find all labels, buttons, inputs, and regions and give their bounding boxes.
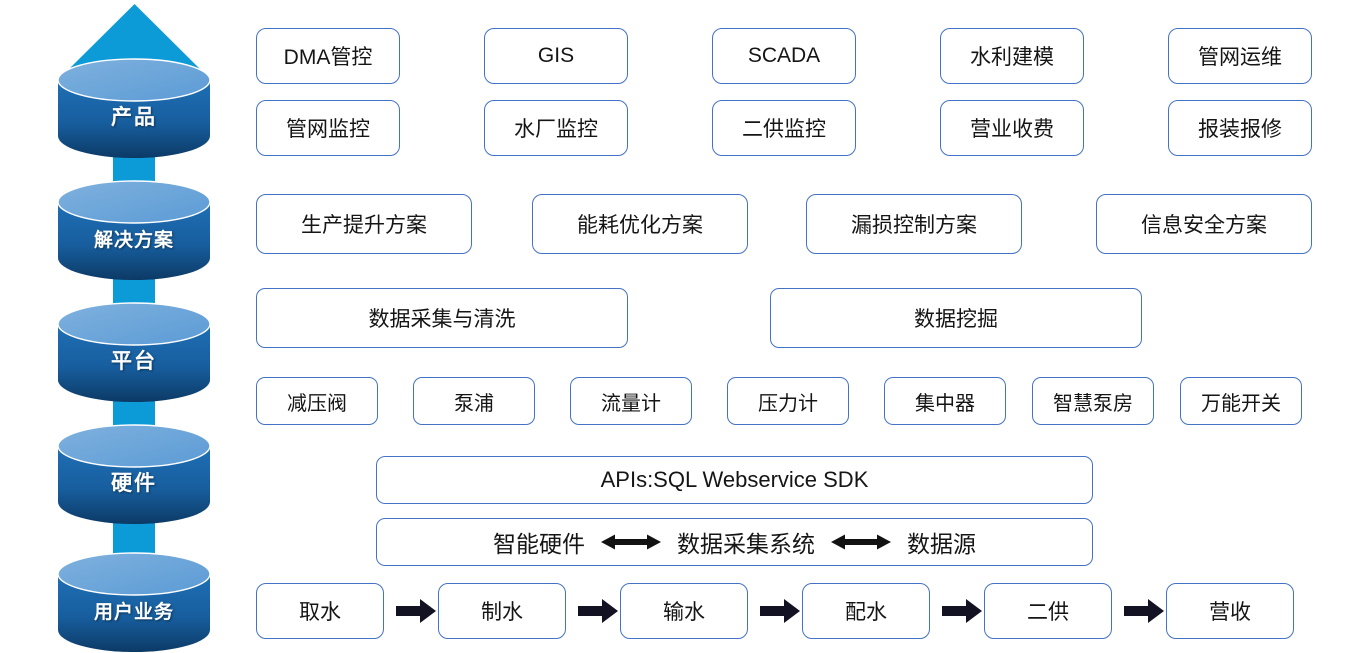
business-step[interactable]: 输水 [620, 583, 748, 639]
business-step[interactable]: 制水 [438, 583, 566, 639]
collect-node-label: 数据采集系统 [677, 525, 815, 559]
platform-card[interactable]: 数据采集与清洗 [256, 288, 628, 348]
flow-arrow-icon [760, 598, 800, 624]
hardware-card[interactable]: 流量计 [570, 377, 692, 425]
platform-card[interactable]: 数据挖掘 [770, 288, 1142, 348]
hardware-card[interactable]: 集中器 [884, 377, 1006, 425]
layer-stack-column: 产品 解决方案 平台 硬件 [0, 0, 248, 653]
hardware-card[interactable]: 泵浦 [413, 377, 535, 425]
product-card[interactable]: 报装报修 [1168, 100, 1312, 156]
business-step[interactable]: 二供 [984, 583, 1112, 639]
flow-arrow-icon [578, 598, 618, 624]
hardware-card[interactable]: 减压阀 [256, 377, 378, 425]
collect-node-label: 智能硬件 [493, 525, 585, 559]
solution-card[interactable]: 漏损控制方案 [806, 194, 1022, 254]
business-step[interactable]: 取水 [256, 583, 384, 639]
product-card[interactable]: 二供监控 [712, 100, 856, 156]
data-collection-bar[interactable]: 智能硬件 数据采集系统 数据源 [376, 518, 1093, 566]
solution-card[interactable]: 生产提升方案 [256, 194, 472, 254]
content-area: DMA管控 GIS SCADA 水利建模 管网运维 管网监控 水厂监控 二供监控… [248, 0, 1345, 653]
flow-arrow-icon [396, 598, 436, 624]
flow-arrow-icon [1124, 598, 1164, 624]
layer-cylinder-solution[interactable]: 解决方案 [55, 180, 213, 280]
product-card[interactable]: 管网运维 [1168, 28, 1312, 84]
hardware-card[interactable]: 智慧泵房 [1032, 377, 1154, 425]
product-card[interactable]: DMA管控 [256, 28, 400, 84]
architecture-diagram: 产品 解决方案 平台 硬件 [0, 0, 1345, 653]
product-card[interactable]: GIS [484, 28, 628, 84]
business-step[interactable]: 营收 [1166, 583, 1294, 639]
product-card[interactable]: 管网监控 [256, 100, 400, 156]
double-arrow-icon [599, 533, 663, 551]
layer-cylinder-business[interactable]: 用户业务 [55, 552, 213, 652]
data-collection-flow: 智能硬件 数据采集系统 数据源 [493, 525, 976, 559]
product-card[interactable]: 营业收费 [940, 100, 1084, 156]
double-arrow-icon [829, 533, 893, 551]
collect-node-label: 数据源 [907, 525, 976, 559]
solution-card[interactable]: 能耗优化方案 [532, 194, 748, 254]
product-card[interactable]: 水厂监控 [484, 100, 628, 156]
layer-cylinder-platform[interactable]: 平台 [55, 302, 213, 402]
business-step[interactable]: 配水 [802, 583, 930, 639]
flow-arrow-icon [942, 598, 982, 624]
product-card[interactable]: SCADA [712, 28, 856, 84]
hardware-card[interactable]: 压力计 [727, 377, 849, 425]
layer-cylinder-hardware[interactable]: 硬件 [55, 424, 213, 524]
api-bar[interactable]: APIs:SQL Webservice SDK [376, 456, 1093, 504]
hardware-card[interactable]: 万能开关 [1180, 377, 1302, 425]
solution-card[interactable]: 信息安全方案 [1096, 194, 1312, 254]
product-card[interactable]: 水利建模 [940, 28, 1084, 84]
layer-cylinder-product[interactable]: 产品 [55, 58, 213, 158]
